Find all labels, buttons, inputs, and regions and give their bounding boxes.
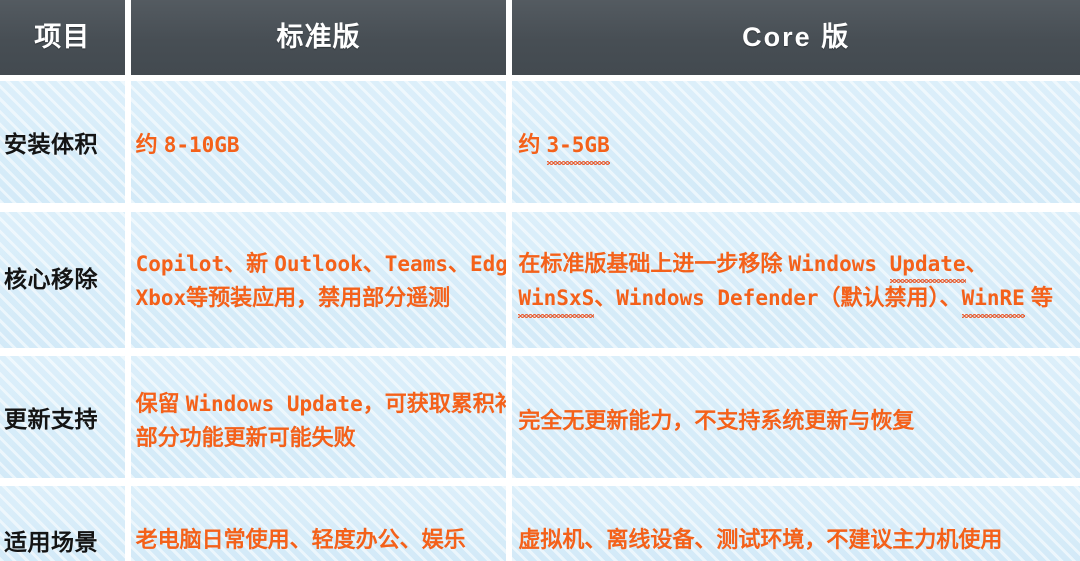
misspelled-term: WinSxS [518,282,594,315]
cell-text-line: 老电脑日常使用、轻度办公、娱乐 [136,523,466,557]
table-row: 适用场景 老电脑日常使用、轻度办公、娱乐 虚拟机、离线设备、测试环境，不建议主力… [0,486,1080,561]
misspelled-term: WinRE [962,282,1025,315]
header-label-standard: 标准版 [276,24,360,51]
text-run: 约 [518,132,546,157]
cell-core-value: 完全无更新能力，不支持系统更新与恢复 [512,404,922,438]
text-run: 约 [136,132,164,157]
cell-standard: 保留 Windows Update，可获取累积补丁，部分功能更新可能失败 [131,356,507,478]
cell-core: 完全无更新能力，不支持系统更新与恢复 [512,356,1080,478]
text-run: 等 [1025,285,1053,310]
row-label-cell: 适用场景 [0,486,125,561]
cell-text-line: 约 3-5GB [518,128,609,162]
row-label-cell: 核心移除 [0,212,125,348]
cell-core: 在标准版基础上进一步移除 Windows Update、WinSxS、Windo… [512,212,1080,348]
header-cell-core: Core 版 [512,0,1080,75]
cell-text-line: 保留 Windows Update，可获取累积补丁， [136,387,507,421]
text-run: 等预装应用，禁用部分遥测 [186,285,450,310]
comparison-table: 项目 标准版 Core 版 安装体积 约 8-10GB 约 3-5GB 核心移除… [0,0,1080,561]
row-label: 安装体积 [0,131,98,159]
cell-standard: 老电脑日常使用、轻度办公、娱乐 [131,486,507,561]
cell-standard-value: 约 8-10GB [131,128,248,162]
row-label-cell: 更新支持 [0,356,125,478]
text-run: 、 [448,251,470,276]
text-run: 、新 [224,251,274,276]
text-run: Windows Update [186,392,363,416]
text-run: 完全无更新能力，不支持系统更新与恢复 [518,408,914,433]
cell-text-line: 部分功能更新可能失败 [136,421,507,455]
row-label: 核心移除 [0,266,98,294]
row-label: 适用场景 [0,529,98,561]
cell-core-value: 约 3-5GB [512,128,617,162]
header-cell-standard: 标准版 [131,0,507,75]
cell-text-line: 虚拟机、离线设备、测试环境，不建议主力机使用 [518,523,1002,557]
header-label-core: Core 版 [742,24,850,51]
text-run: Outlook [274,252,363,276]
header-label-item: 项目 [34,24,90,51]
text-run: 8-10GB [164,133,240,157]
text-run: Windows Defender [616,286,818,310]
cell-core-value: 在标准版基础上进一步移除 Windows Update、WinSxS、Windo… [512,247,1061,315]
text-run: ，可获取累积补丁， [363,391,507,416]
misspelled-term: Update [890,248,966,281]
cell-text-line: Copilot、新 Outlook、Teams、Edge、 [136,247,507,281]
text-run: 在标准版基础上进一步移除 [518,251,788,276]
cell-core: 约 3-5GB [512,81,1080,203]
table-row: 更新支持 保留 Windows Update，可获取累积补丁，部分功能更新可能失… [0,356,1080,478]
text-run: 、 [966,251,988,276]
text-run: 、 [363,251,385,276]
text-run: Teams [385,252,448,276]
text-run: 部分功能更新可能失败 [136,425,356,450]
cell-text-line: 完全无更新能力，不支持系统更新与恢复 [518,404,914,438]
misspelled-term: 3-5GB [547,129,610,162]
text-run: （默认禁用）、 [819,285,962,310]
cell-core: 虚拟机、离线设备、测试环境，不建议主力机使用 [512,486,1080,561]
text-run: 保留 [136,391,186,416]
table-row: 安装体积 约 8-10GB 约 3-5GB [0,81,1080,203]
text-run: Windows [789,252,890,276]
table-header-row: 项目 标准版 Core 版 [0,0,1080,75]
cell-core-value: 虚拟机、离线设备、测试环境，不建议主力机使用 [512,523,1010,561]
text-run: 虚拟机、离线设备、测试环境，不建议主力机使用 [518,527,1002,552]
cell-text-line: 在标准版基础上进一步移除 Windows Update、 [518,247,1053,281]
text-run: Xbox [136,286,187,310]
cell-standard-value: 保留 Windows Update，可获取累积补丁，部分功能更新可能失败 [131,387,507,455]
header-cell-item: 项目 [0,0,125,75]
text-run: Copilot [136,252,225,276]
cell-text-line: Xbox等预装应用，禁用部分遥测 [136,281,507,315]
cell-text-line: 约 8-10GB [136,128,240,162]
text-run: 老电脑日常使用、轻度办公、娱乐 [136,527,466,552]
table-row: 核心移除 Copilot、新 Outlook、Teams、Edge、Xbox等预… [0,212,1080,348]
row-label: 更新支持 [0,406,98,434]
cell-standard: Copilot、新 Outlook、Teams、Edge、Xbox等预装应用，禁… [131,212,507,348]
row-label-cell: 安装体积 [0,81,125,203]
cell-standard: 约 8-10GB [131,81,507,203]
cell-standard-value: 老电脑日常使用、轻度办公、娱乐 [131,523,474,561]
text-run: Edge [470,252,506,276]
text-run: 、 [594,285,616,310]
cell-standard-value: Copilot、新 Outlook、Teams、Edge、Xbox等预装应用，禁… [131,247,507,315]
cell-text-line: WinSxS、Windows Defender（默认禁用）、WinRE 等 [518,281,1053,315]
